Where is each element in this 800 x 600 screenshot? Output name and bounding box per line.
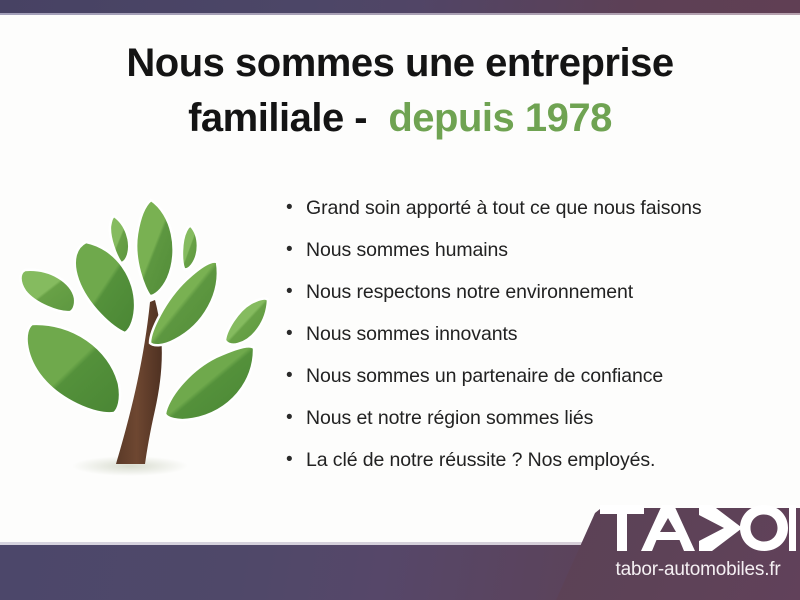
- list-item: • Grand soin apporté à tout ce que nous …: [286, 193, 786, 235]
- list-item: • Nous sommes humains: [286, 235, 786, 277]
- list-item: • Nous respectons notre environnement: [286, 277, 786, 319]
- list-item-label: Grand soin apporté à tout ce que nous fa…: [306, 193, 702, 223]
- bullet-marker-icon: •: [286, 445, 306, 475]
- bullet-list: • Grand soin apporté à tout ce que nous …: [286, 193, 786, 487]
- list-item: • Nous et notre région sommes liés: [286, 403, 786, 445]
- headline-line-2: familiale - depuis 1978: [40, 91, 760, 146]
- list-item-label: Nous sommes humains: [306, 235, 508, 265]
- brand-logo-url: tabor-automobiles.fr: [600, 558, 796, 582]
- list-item-label: Nous sommes un partenaire de confiance: [306, 361, 663, 391]
- headline-line-1: Nous sommes une entreprise: [40, 36, 760, 91]
- list-item-label: La clé de notre réussite ? Nos employés.: [306, 445, 655, 475]
- bullet-marker-icon: •: [286, 403, 306, 433]
- brand-logo-wordmark: [600, 505, 796, 555]
- bullet-marker-icon: •: [286, 193, 306, 223]
- list-item-label: Nous respectons notre environnement: [306, 277, 633, 307]
- bullet-marker-icon: •: [286, 235, 306, 265]
- tree-icon: [14, 192, 276, 492]
- top-accent-hairline: [0, 13, 800, 15]
- headline-accent-text: depuis 1978: [388, 96, 612, 140]
- bullet-marker-icon: •: [286, 361, 306, 391]
- slide-canvas: Nous sommes une entreprise familiale - d…: [0, 0, 800, 600]
- top-accent-bar: [0, 0, 800, 13]
- list-item-label: Nous sommes innovants: [306, 319, 517, 349]
- bullet-marker-icon: •: [286, 277, 306, 307]
- page-title: Nous sommes une entreprise familiale - d…: [40, 36, 760, 146]
- list-item: • Nous sommes un partenaire de confiance: [286, 361, 786, 403]
- tabor-wordmark-icon: [600, 505, 796, 553]
- bullet-marker-icon: •: [286, 319, 306, 349]
- list-item: • La clé de notre réussite ? Nos employé…: [286, 445, 786, 487]
- tree-illustration: [14, 192, 276, 492]
- headline-line-2-black: familiale -: [188, 96, 367, 140]
- list-item-label: Nous et notre région sommes liés: [306, 403, 593, 433]
- list-item: • Nous sommes innovants: [286, 319, 786, 361]
